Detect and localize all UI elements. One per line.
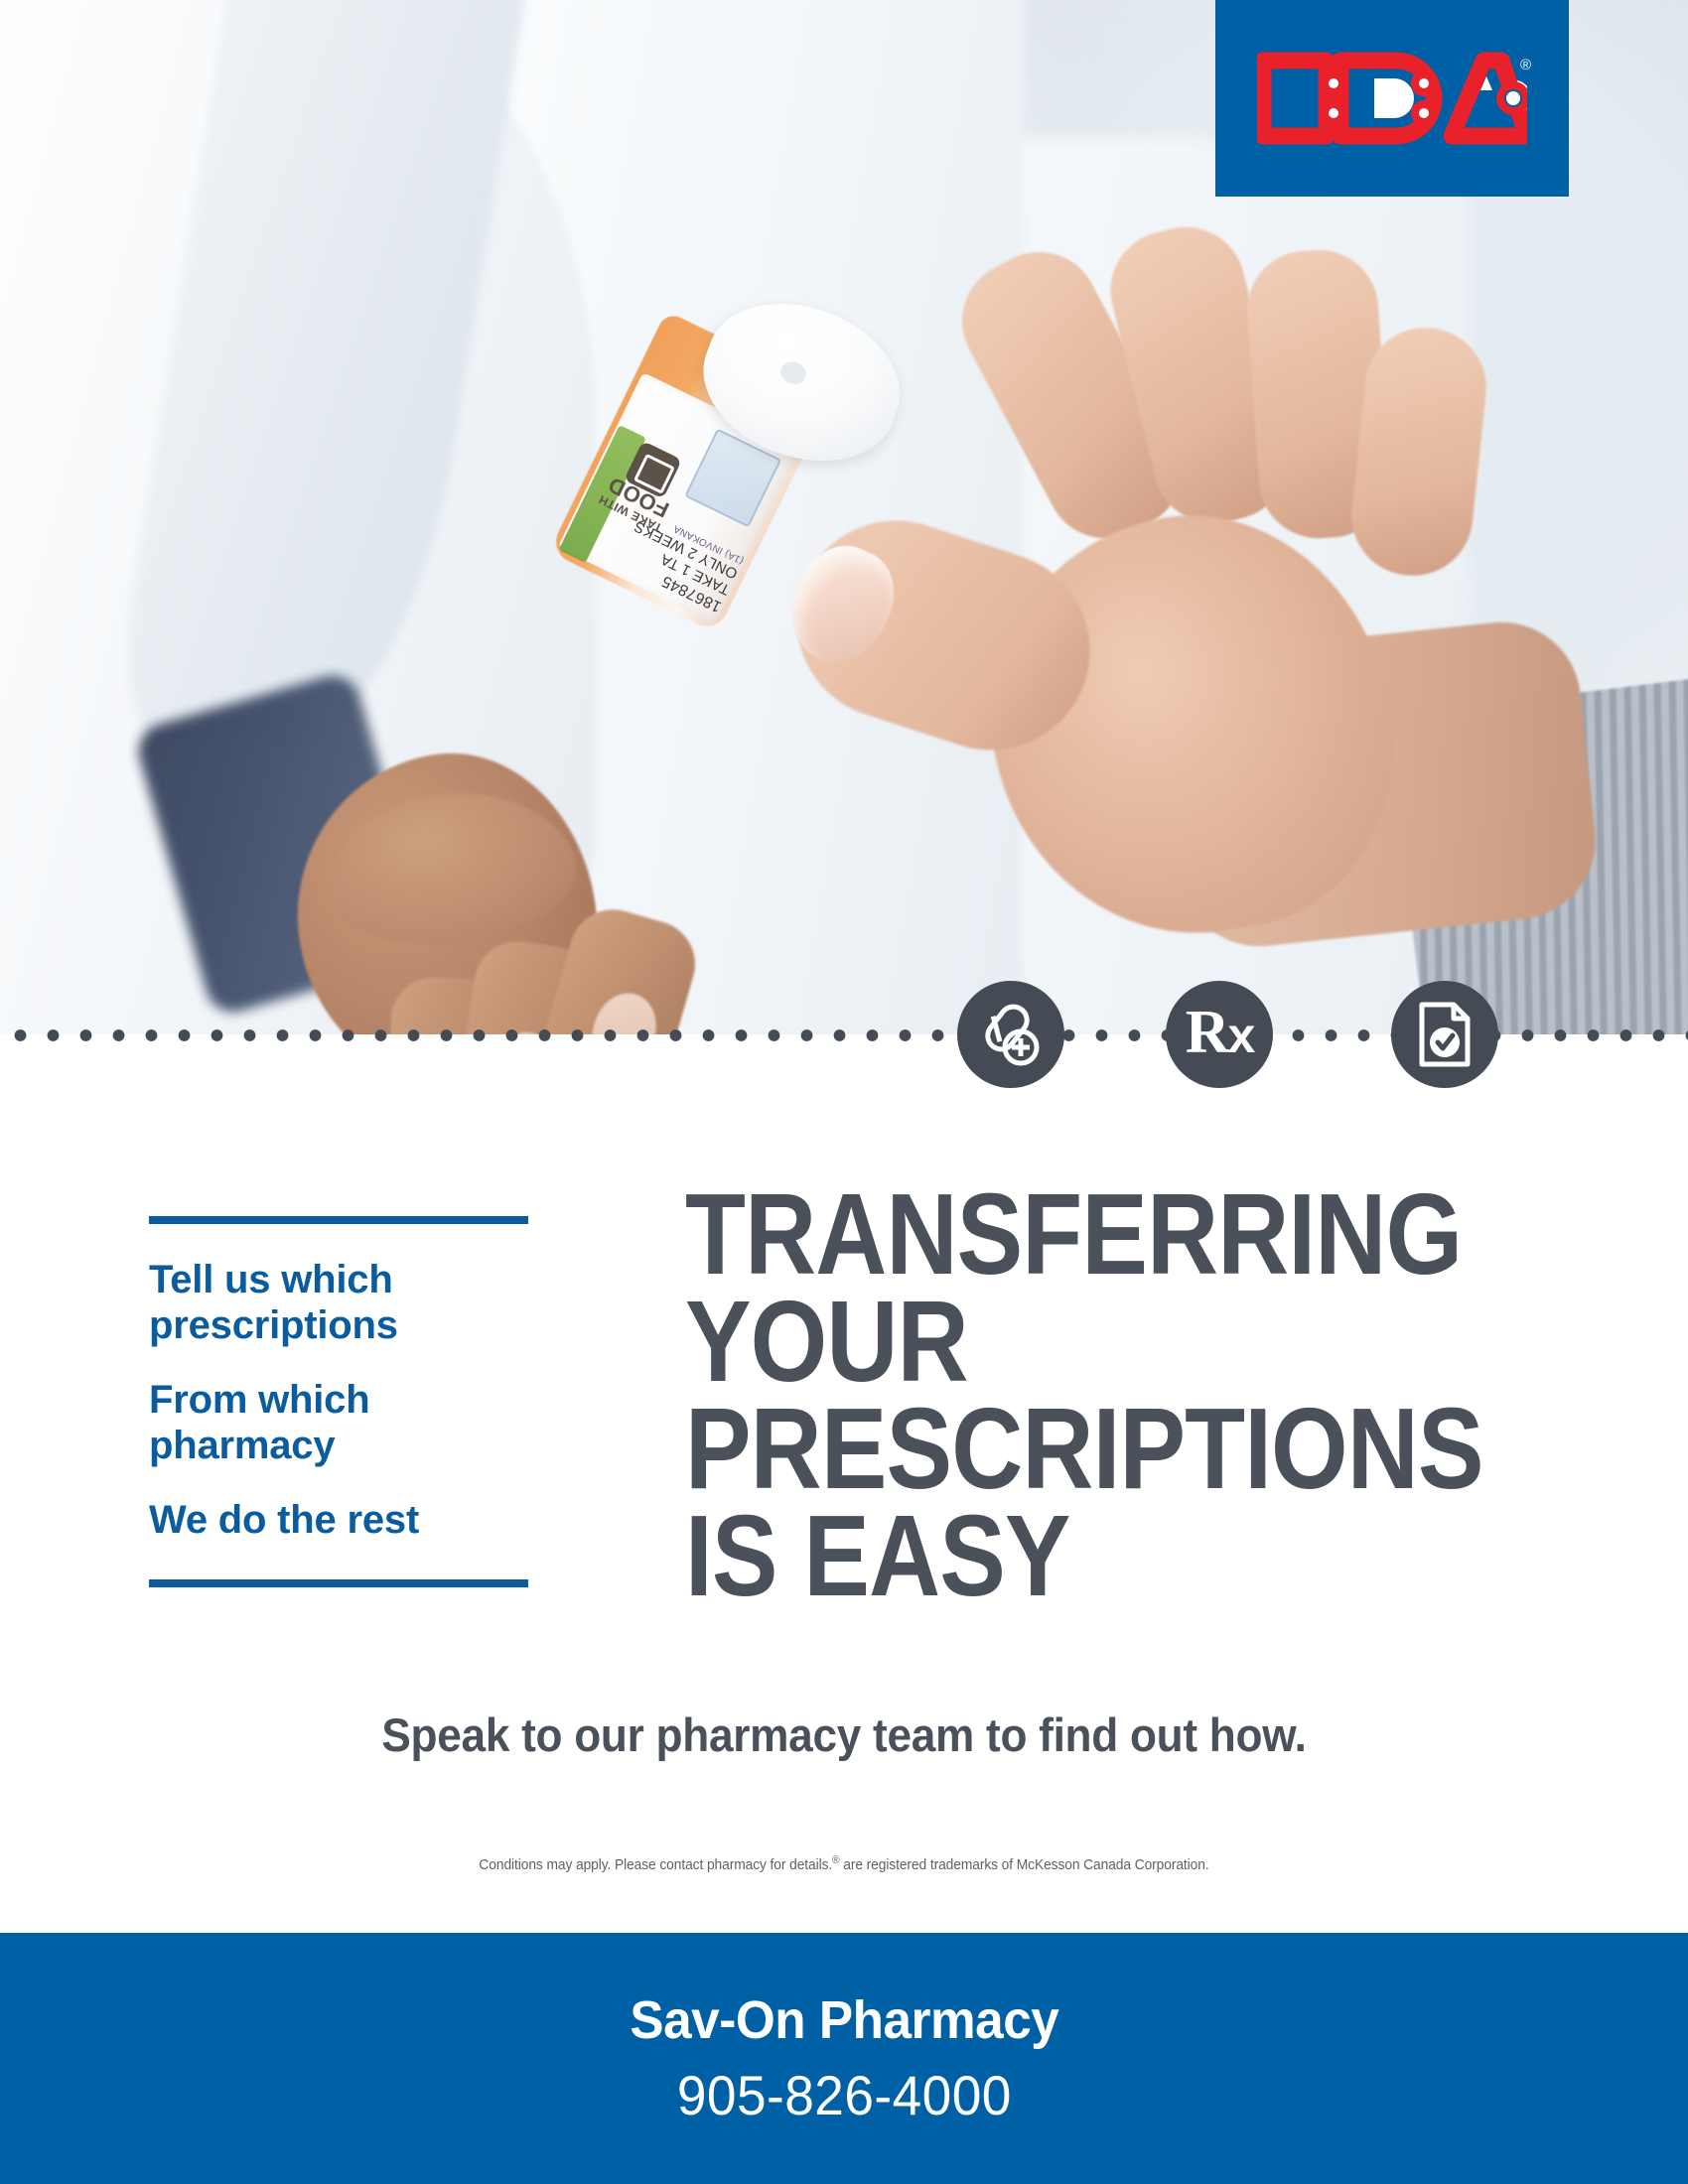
rx-glyph: Rx xyxy=(1186,1002,1254,1067)
registered-trademark-icon: ® xyxy=(1520,57,1531,73)
ida-logo-svg xyxy=(1257,51,1527,146)
steps-bottom-rule xyxy=(149,1579,528,1587)
steps-top-rule xyxy=(149,1216,528,1224)
subheading: Speak to our pharmacy team to find out h… xyxy=(51,1707,1637,1762)
rx-icon: Rx xyxy=(1166,981,1273,1088)
registered-symbol: ® xyxy=(832,1854,839,1866)
document-check-glyph xyxy=(1414,1002,1476,1067)
pills-plus-glyph xyxy=(978,1002,1044,1067)
pharmacy-name: Sav-On Pharmacy xyxy=(630,1989,1058,2051)
ida-logo-mark: ® xyxy=(1257,51,1527,146)
page-title: TRANSFERRING YOUR PRESCRIPTIONS IS EASY xyxy=(685,1181,1505,1610)
steps-column: Tell us which prescriptions From which p… xyxy=(149,1216,528,1587)
footer-bar: Sav-On Pharmacy 905-826-4000 xyxy=(0,1933,1688,2184)
headline-line-3: PRESCRIPTIONS xyxy=(685,1396,1505,1503)
step-item-2: From which pharmacy xyxy=(149,1378,528,1468)
document-check-icon xyxy=(1391,981,1498,1088)
disclaimer-part-1: Conditions may apply. Please contact pha… xyxy=(479,1856,832,1873)
pills-plus-icon xyxy=(957,981,1064,1088)
headline-line-4: IS EASY xyxy=(685,1503,1505,1610)
step-item-1: Tell us which prescriptions xyxy=(149,1258,528,1348)
disclaimer-text: Conditions may apply. Please contact pha… xyxy=(68,1854,1620,1873)
headline-line-1: TRANSFERRING xyxy=(685,1181,1505,1289)
disclaimer-part-2: are registered trademarks of McKesson Ca… xyxy=(840,1856,1209,1873)
step-item-3: We do the rest xyxy=(149,1498,528,1544)
headline-line-2: YOUR xyxy=(685,1289,1505,1396)
pharmacy-phone[interactable]: 905-826-4000 xyxy=(676,2063,1011,2127)
ida-logo: ® xyxy=(1215,0,1569,197)
